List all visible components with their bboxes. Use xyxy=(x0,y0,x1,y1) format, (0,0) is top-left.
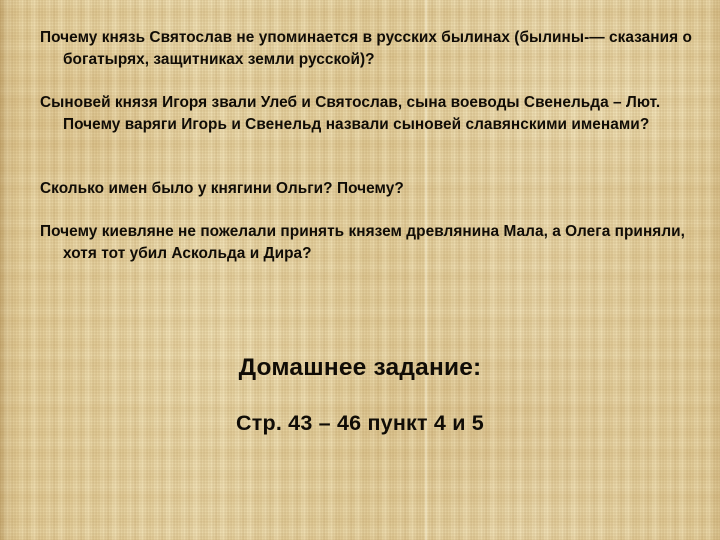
slide-content: Почему князь Святослав не упоминается в … xyxy=(0,0,720,540)
homework-pages: Стр. 43 – 46 пункт 4 и 5 xyxy=(0,409,720,437)
question-paragraph-3: Сколько имен было у княгини Ольги? Почем… xyxy=(40,178,711,200)
question-paragraph-2: Сыновей князя Игоря звали Улеб и Святосл… xyxy=(40,92,711,135)
question-paragraph-1: Почему князь Святослав не упоминается в … xyxy=(40,27,711,70)
homework-heading: Домашнее задание: xyxy=(0,353,720,383)
question-paragraph-4: Почему киевляне не пожелали принять княз… xyxy=(40,221,711,264)
presentation-slide: Почему князь Святослав не упоминается в … xyxy=(0,0,720,540)
